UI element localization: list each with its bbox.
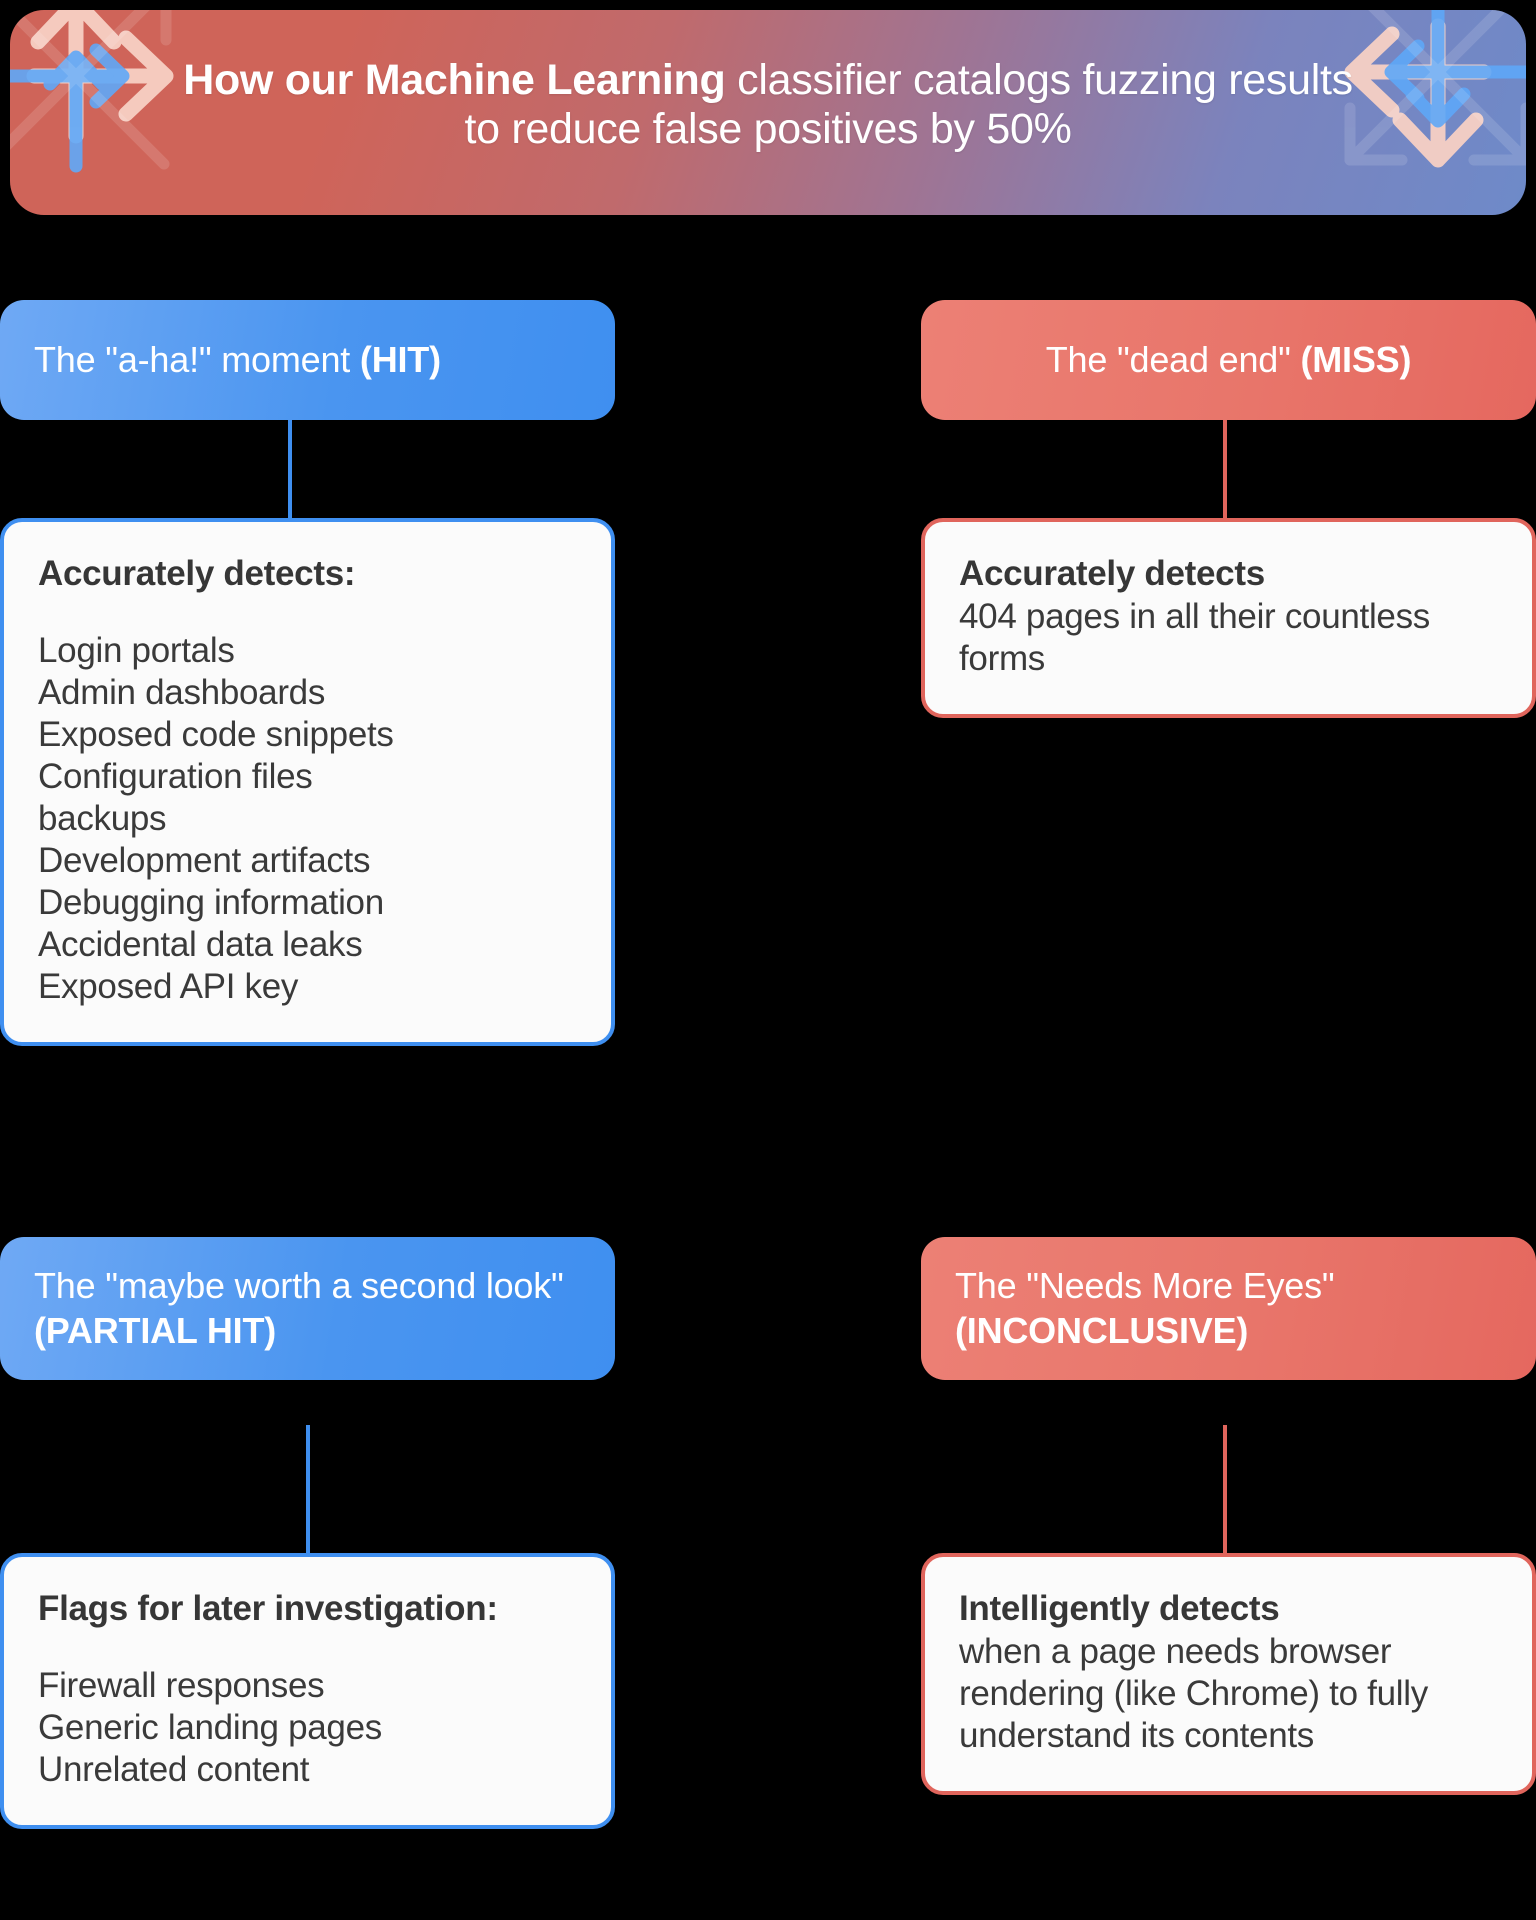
list-item: Login portals (38, 630, 577, 672)
detail-card-miss: Accurately detects 404 pages in all thei… (921, 518, 1536, 718)
connector-line-inconclusive (1223, 1425, 1227, 1555)
connector-line-miss (1223, 420, 1227, 520)
infographic-page: How our Machine Learning classifier cata… (0, 0, 1536, 1920)
list-item: Configuration files backups (38, 756, 577, 840)
list-item: Admin dashboards (38, 672, 577, 714)
category-header-partial-hit-label: The "maybe worth a second look" (PARTIAL… (34, 1263, 581, 1354)
label-plain: The "dead end" (1046, 339, 1301, 380)
detail-card-miss-heading: Accurately detects (959, 552, 1498, 596)
list-item: Exposed code snippets (38, 714, 577, 756)
detail-card-hit: Accurately detects: Login portals Admin … (0, 518, 615, 1046)
category-header-miss[interactable]: The "dead end" (MISS) (921, 300, 1536, 420)
category-header-inconclusive-label: The "Needs More Eyes" (INCONCLUSIVE) (955, 1263, 1502, 1354)
detail-card-inconclusive-body: when a page needs browser rendering (lik… (959, 1631, 1498, 1757)
category-header-hit[interactable]: The "a-ha!" moment (HIT) (0, 300, 615, 420)
connector-line-hit (288, 420, 292, 520)
list-item: Development artifacts (38, 840, 577, 882)
label-badge: (INCONCLUSIVE) (955, 1310, 1248, 1351)
page-title-emphasis: How our Machine Learning (183, 56, 725, 104)
detail-card-partial-hit: Flags for later investigation: Firewall … (0, 1553, 615, 1829)
label-badge: (MISS) (1300, 339, 1411, 380)
list-item: Generic landing pages (38, 1707, 577, 1749)
detail-card-partial-hit-list: Firewall responses Generic landing pages… (38, 1665, 577, 1791)
detail-card-partial-hit-heading: Flags for later investigation: (38, 1587, 577, 1631)
connector-line-partial-hit (306, 1425, 310, 1555)
header-banner: How our Machine Learning classifier cata… (10, 10, 1526, 215)
list-item: Firewall responses (38, 1665, 577, 1707)
category-header-inconclusive[interactable]: The "Needs More Eyes" (INCONCLUSIVE) (921, 1237, 1536, 1380)
page-title: How our Machine Learning classifier cata… (10, 56, 1526, 153)
list-item: Debugging information (38, 882, 577, 924)
list-item: Exposed API key (38, 966, 577, 1008)
label-plain: The "Needs More Eyes" (955, 1265, 1335, 1306)
list-item: Accidental data leaks (38, 924, 577, 966)
detail-card-inconclusive-heading: Intelligently detects (959, 1587, 1498, 1631)
detail-card-miss-body: 404 pages in all their countless forms (959, 596, 1498, 680)
detail-card-hit-heading: Accurately detects: (38, 552, 577, 596)
label-plain: The "maybe worth a second look" (34, 1265, 564, 1306)
category-header-partial-hit[interactable]: The "maybe worth a second look" (PARTIAL… (0, 1237, 615, 1380)
category-header-miss-label: The "dead end" (MISS) (1046, 337, 1412, 382)
label-plain: The "a-ha!" moment (34, 339, 360, 380)
label-badge: (PARTIAL HIT) (34, 1310, 276, 1351)
detail-card-hit-list: Login portals Admin dashboards Exposed c… (38, 630, 577, 1008)
list-item: Unrelated content (38, 1749, 577, 1791)
detail-card-inconclusive: Intelligently detects when a page needs … (921, 1553, 1536, 1795)
category-header-hit-label: The "a-ha!" moment (HIT) (34, 337, 441, 382)
label-badge: (HIT) (360, 339, 441, 380)
